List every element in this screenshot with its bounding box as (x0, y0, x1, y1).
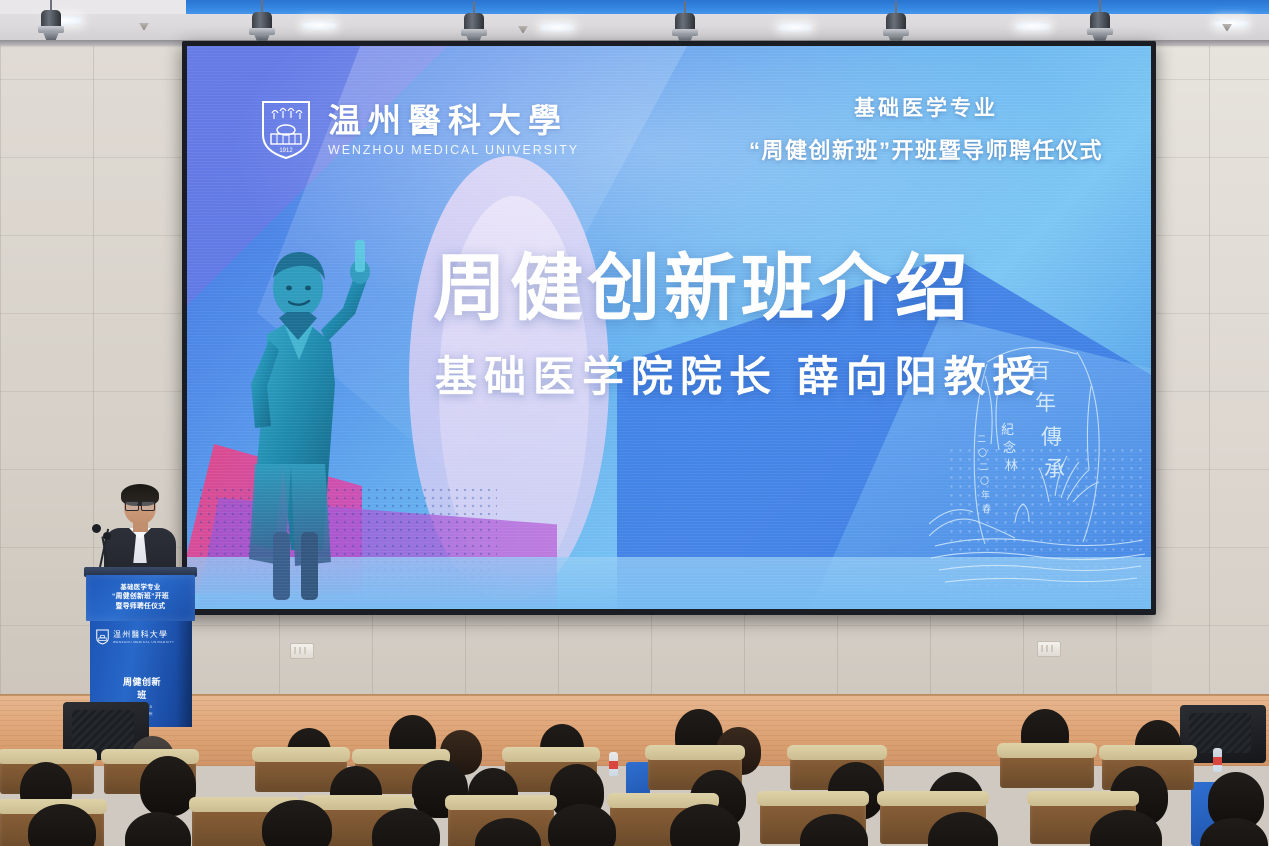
podium-logo-cn: 温州醫科大學 (113, 631, 174, 639)
ceiling-lamp-icon (778, 23, 812, 32)
ceiling-lamp-icon (302, 21, 336, 30)
audience-area (0, 700, 1269, 846)
podium-logo-en: WENZHOU MEDICAL UNIVERSITY (113, 641, 174, 644)
stage-spotlight-icon (881, 7, 911, 41)
water-bottle-icon (609, 752, 618, 776)
svg-text:傳: 傳 (1041, 425, 1062, 449)
slide-header-line1: 基础医学专业 (749, 92, 1103, 122)
stage-spotlight-icon (247, 6, 277, 40)
svg-text:〇: 〇 (978, 448, 987, 459)
podium-mark-line1: 周健创新班 (120, 675, 164, 701)
svg-text:〇: 〇 (980, 476, 989, 487)
ceiling-lamp-icon (1016, 22, 1050, 31)
university-logo-lockup: 1912 温州醫科大學 WENZHOU MEDICAL UNIVERSITY (260, 99, 579, 161)
shield-crest-icon: 1912 (260, 99, 312, 161)
svg-text:年: 年 (981, 489, 990, 501)
audience-head (125, 812, 191, 846)
svg-text:承: 承 (1044, 457, 1065, 481)
auditorium-seat[interactable] (1000, 752, 1094, 788)
auditorium-photo: 百 年 傳 承 紀 念 林 二 〇 二 〇 年 春 (0, 0, 1269, 846)
ceiling-lamp-icon (540, 23, 574, 32)
audience-head (140, 756, 196, 816)
slide-header: 基础医学专业 “周健创新班”开班暨导师聘任仪式 (749, 92, 1103, 165)
scientist-statue-icon (205, 214, 405, 609)
slide-subtitle: 基础医学院院长 薛向阳教授 (435, 343, 1042, 404)
svg-text:二: 二 (977, 435, 986, 445)
stage-spotlight-icon (1085, 6, 1115, 40)
crest-year: 1912 (279, 148, 293, 154)
water-bottle-icon (1213, 748, 1222, 772)
podium-university-logo: 温州醫科大學 WENZHOU MEDICAL UNIVERSITY (96, 629, 174, 645)
podium-sign-line1: 基础医学专业 (120, 584, 160, 592)
audience-head (548, 804, 616, 846)
slide-title: 周健创新班介绍 (433, 229, 972, 335)
led-screen[interactable]: 百 年 傳 承 紀 念 林 二 〇 二 〇 年 春 (187, 46, 1151, 609)
wall-outlet-icon[interactable] (1037, 641, 1061, 657)
svg-text:春: 春 (982, 503, 991, 515)
stage-spotlight-icon (670, 7, 700, 41)
ceiling-left-trim (0, 0, 186, 14)
svg-text:林: 林 (1005, 459, 1018, 474)
stage-spotlight-icon (459, 7, 489, 41)
glasses-icon (125, 501, 155, 509)
slide-header-line2: “周健创新班”开班暨导师聘任仪式 (749, 133, 1103, 165)
podium-event-sign: 基础医学专业 “周健创新班”开班 暨导师聘任仪式 (86, 575, 195, 621)
university-name-en: WENZHOU MEDICAL UNIVERSITY (328, 144, 579, 157)
university-name-cn: 温州醫科大學 (328, 104, 579, 137)
svg-text:二: 二 (979, 463, 988, 473)
ceiling-lamp-icon (1214, 19, 1248, 28)
podium-sign-line3: 暨导师聘任仪式 (116, 603, 166, 612)
wall-outlet-icon[interactable] (290, 643, 314, 659)
podium-sign-line2: “周健创新班”开班 (112, 593, 169, 602)
svg-text:念: 念 (1003, 440, 1016, 456)
shield-crest-icon (96, 629, 109, 645)
svg-text:紀: 紀 (1001, 423, 1014, 438)
stage-spotlight-icon (36, 4, 66, 38)
